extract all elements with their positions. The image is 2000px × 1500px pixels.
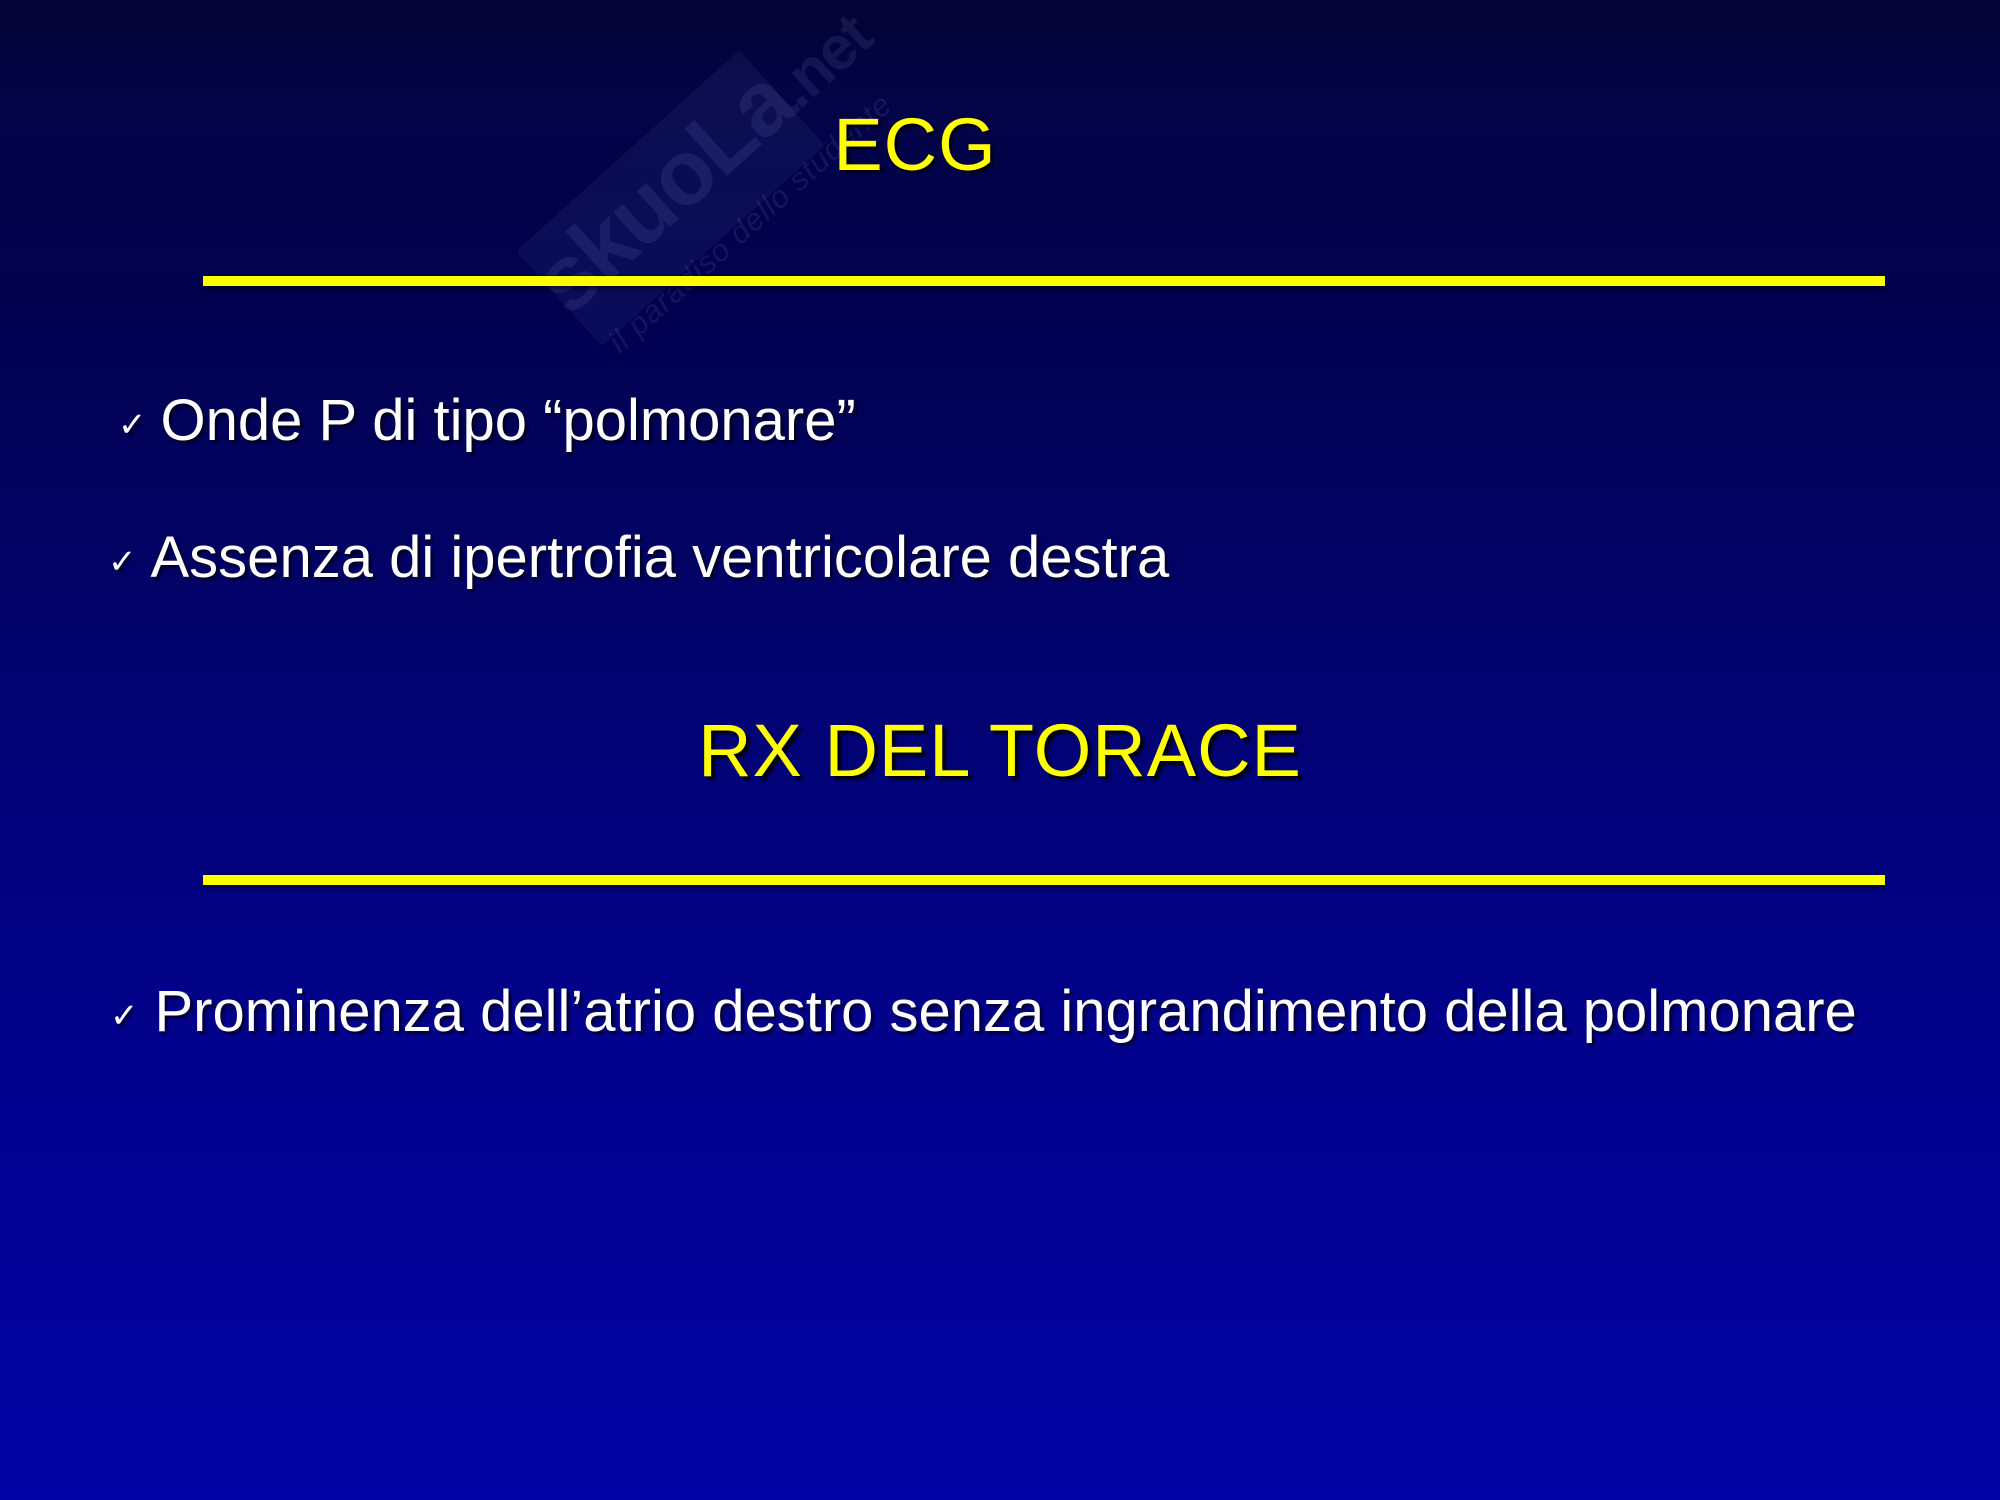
check-mark-icon: ✓: [108, 545, 137, 579]
watermark-brand-text: skuoLa: [514, 50, 813, 333]
presentation-slide: skuoLa.net il paradiso dello studente EC…: [0, 0, 2000, 1500]
divider-rule-rx: [203, 875, 1885, 885]
bullet-item-onde-p: ✓ Onde P di tipo “polmonare”: [118, 390, 856, 453]
section-heading-rx-del-torace: RX DEL TORACE: [0, 714, 2000, 788]
bullet-item-prominenza-atrio: ✓Prominenza dell’atrio destro senza ingr…: [110, 975, 1900, 1049]
section-heading-ecg: ECG: [0, 108, 1830, 182]
watermark-brand: skuoLa.net: [517, 47, 816, 329]
divider-rule-ecg: [203, 276, 1885, 286]
bullet-item-label: Assenza di ipertrofia ventricolare destr…: [151, 527, 1170, 590]
check-mark-icon: ✓: [110, 999, 139, 1033]
bullet-item-label: Prominenza dell’atrio destro senza ingra…: [155, 979, 1857, 1044]
watermark-badge-shape: [516, 50, 825, 346]
bullet-item-assenza-ipertrofia: ✓ Assenza di ipertrofia ventricolare des…: [108, 527, 1169, 590]
check-mark-icon: ✓: [118, 408, 147, 442]
skuola-watermark: skuoLa.net il paradiso dello studente: [500, 20, 920, 440]
bullet-item-label: Onde P di tipo “polmonare”: [161, 390, 856, 453]
